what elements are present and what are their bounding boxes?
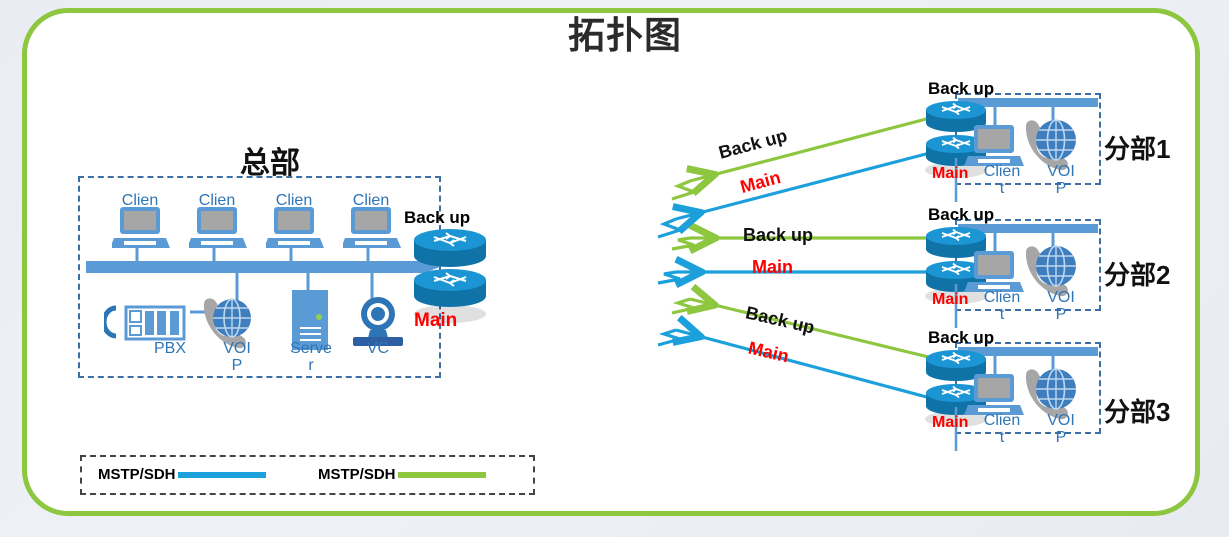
legend-item-backup: MSTP/SDH [318,466,486,483]
laptop-icon [343,206,401,252]
hq-vc-label: VC [355,340,401,357]
branch-3-client-label: Clien t [976,412,1028,446]
laptop-icon [112,206,170,252]
hq-router-main [414,269,486,307]
link-2-backup-label: Back up [743,225,813,246]
legend-item-main-swatch [178,472,266,478]
branch-3-voip-label: VOI P [1037,412,1085,446]
hq-voip-label: VOI P [210,340,264,374]
link-2-main-label: Main [752,257,793,278]
main-stub-zigzag [658,219,680,345]
branch-2-voip-label: VOI P [1037,289,1085,323]
legend-item-main: MSTP/SDH [98,466,266,483]
legend-item-backup-swatch [398,472,486,478]
page-title: 拓扑图 [505,14,745,58]
hq-server-label: Serve r [281,340,341,374]
hq-main-router-label: Main [414,310,457,332]
branch-2-main-label: Main [932,291,968,309]
hq-bus-bar [86,261,424,273]
branch-3-main-label: Main [932,414,968,432]
branch-1-client-label: Clien t [976,163,1028,197]
legend: MSTP/SDH MSTP/SDH [80,455,535,495]
branch-1-voip-label: VOI P [1037,163,1085,197]
hq-router-backup [414,229,486,267]
backup-stub-zigzag [672,181,694,313]
legend-item-main-label: MSTP/SDH [98,466,176,483]
branch-1-main-label: Main [932,165,968,183]
laptop-icon [189,206,247,252]
main-links [676,148,949,403]
hq-backup-router-label: Back up [404,208,470,228]
laptop-icon [266,206,324,252]
legend-item-backup-label: MSTP/SDH [318,466,396,483]
branch-2-client-label: Clien t [976,289,1028,323]
topology-diagram-canvas: 拓扑图 总部 Clien t [0,0,1229,537]
